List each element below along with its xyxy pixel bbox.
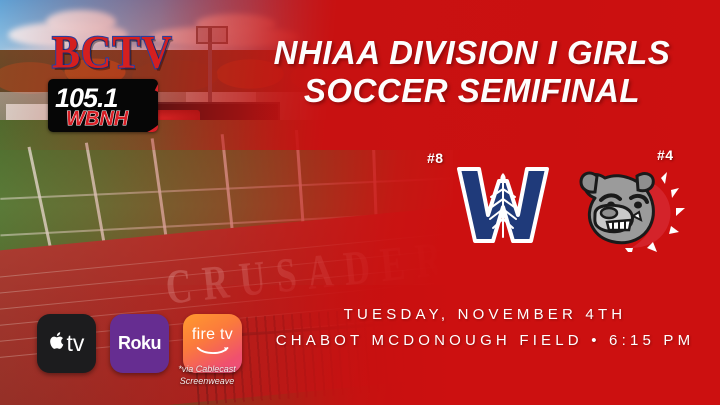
graphic-canvas: CRUSADERS BCTV 105.1 WBNH NHIAA DIVISION… xyxy=(0,0,720,405)
wbnh-radio-logo: 105.1 WBNH xyxy=(48,79,158,132)
bctv-logo: BCTV xyxy=(52,26,173,80)
footnote-line-2: Screenweave xyxy=(180,376,235,386)
team-a-seed: #8 xyxy=(427,150,444,166)
letter-w-pine-logo xyxy=(455,163,551,247)
headline-line-1: NHIAA DIVISION I GIRLS xyxy=(274,34,671,71)
apple-tv-badge[interactable]: tv xyxy=(37,314,96,373)
apple-tv-label: tv xyxy=(67,330,85,357)
page-title: NHIAA DIVISION I GIRLS SOCCER SEMIFINAL xyxy=(246,34,698,111)
event-venue-time: CHABOT MCDONOUGH FIELD • 6:15 PM xyxy=(272,332,698,349)
amazon-smile-icon xyxy=(196,343,230,361)
radio-callsign: WBNH xyxy=(66,108,128,131)
streaming-footnote: *via Cablecast Screenweave xyxy=(155,364,259,387)
apple-logo-icon xyxy=(49,330,66,357)
headline-line-2: SOCCER SEMIFINAL xyxy=(246,72,698,110)
event-details: TUESDAY, NOVEMBER 4TH CHABOT MCDONOUGH F… xyxy=(272,306,698,349)
footnote-line-1: *via Cablecast xyxy=(178,364,236,374)
event-date: TUESDAY, NOVEMBER 4TH xyxy=(272,306,698,323)
bulldog-head-logo xyxy=(575,160,685,252)
roku-wordmark-icon: Roku xyxy=(118,333,161,354)
fire-tv-label: fire tv xyxy=(192,327,233,343)
